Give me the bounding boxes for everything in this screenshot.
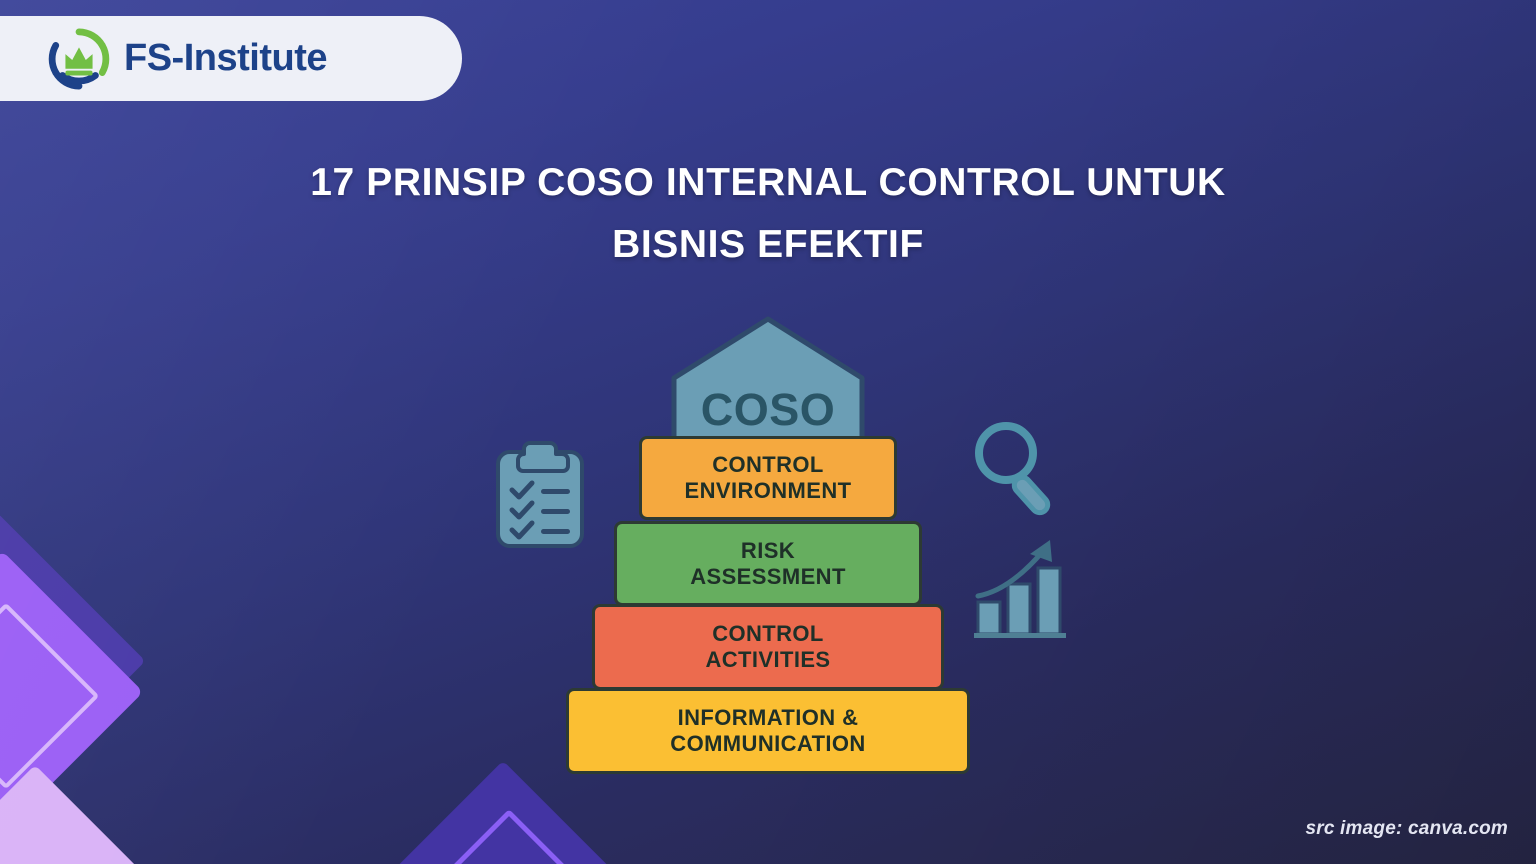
fs-institute-logo-icon	[48, 28, 110, 90]
magnifying-glass-icon	[968, 416, 1068, 516]
decorative-diamond-lavender	[0, 765, 141, 864]
pyramid-layer-risk-assessment[interactable]: RISK ASSESSMENT	[614, 521, 922, 606]
layer-label-line-2: COMMUNICATION	[670, 731, 865, 757]
pyramid-layer-control-activities[interactable]: CONTROL ACTIVITIES	[592, 604, 944, 690]
brand-logo-pill: FS-Institute	[0, 16, 462, 101]
title-line-2: BISNIS EFEKTIF	[0, 214, 1536, 276]
infographic-canvas: FS-Institute 17 PRINSIP COSO INTERNAL CO…	[0, 0, 1536, 864]
layer-label-line-1: RISK	[690, 538, 846, 564]
pyramid-layer-information-communication[interactable]: INFORMATION & COMMUNICATION	[566, 688, 970, 774]
clipboard-checklist-icon	[494, 440, 586, 550]
layer-label-line-2: ASSESSMENT	[690, 564, 846, 590]
layer-label-line-2: ACTIVITIES	[705, 647, 830, 673]
title-line-1: 17 PRINSIP COSO INTERNAL CONTROL UNTUK	[0, 152, 1536, 214]
growth-bar-chart-icon	[972, 534, 1068, 640]
layer-label-line-2: ENVIRONMENT	[685, 478, 852, 504]
coso-cap: COSO	[671, 316, 865, 446]
coso-pyramid: COSO CONTROL ENVIRONMENT RISK ASSESSMENT…	[0, 316, 1536, 766]
brand-name: FS-Institute	[124, 37, 327, 80]
coso-label: COSO	[671, 384, 865, 436]
layer-label-line-1: INFORMATION &	[670, 705, 865, 731]
pyramid-layer-control-environment[interactable]: CONTROL ENVIRONMENT	[639, 436, 897, 520]
image-credit: src image: canva.com	[1305, 818, 1508, 840]
layer-label-line-1: CONTROL	[705, 621, 830, 647]
layer-label-line-1: CONTROL	[685, 452, 852, 478]
page-title: 17 PRINSIP COSO INTERNAL CONTROL UNTUK B…	[0, 152, 1536, 276]
